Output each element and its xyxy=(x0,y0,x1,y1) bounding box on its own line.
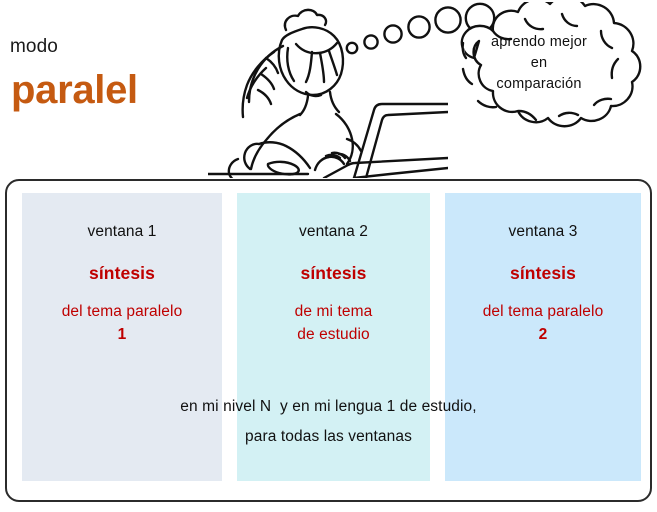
window-1-detail: del tema paralelo 1 xyxy=(22,300,222,346)
window-column-2[interactable]: ventana 2 síntesis de mi tema de estudio xyxy=(237,193,430,481)
window-2-detail: de mi tema de estudio xyxy=(237,300,430,346)
thought-line-2: en xyxy=(453,53,625,74)
diagram-canvas: modo paralel xyxy=(0,0,657,512)
window-3-detail-line-1: del tema paralelo xyxy=(445,300,641,323)
mode-kicker-label: modo xyxy=(10,36,58,58)
window-1-emphasis: síntesis xyxy=(22,263,222,284)
window-1-detail-line-2: 1 xyxy=(22,323,222,346)
window-2-emphasis: síntesis xyxy=(237,263,430,284)
window-2-header: ventana 2 xyxy=(237,222,430,242)
thought-bubble-text: aprendo mejor en comparación xyxy=(453,32,625,95)
thought-line-1: aprendo mejor xyxy=(453,32,625,53)
window-3-detail-line-2: 2 xyxy=(445,323,641,346)
window-3-emphasis: síntesis xyxy=(445,263,641,284)
page-title: paralel xyxy=(11,68,138,113)
window-1-detail-line-1: del tema paralelo xyxy=(22,300,222,323)
window-column-1[interactable]: ventana 1 síntesis del tema paralelo 1 xyxy=(22,193,222,481)
window-column-3[interactable]: ventana 3 síntesis del tema paralelo 2 xyxy=(445,193,641,481)
window-2-detail-line-2: de estudio xyxy=(237,323,430,346)
window-3-header: ventana 3 xyxy=(445,222,641,242)
windows-columns: ventana 1 síntesis del tema paralelo 1 v… xyxy=(5,193,652,481)
window-2-detail-line-1: de mi tema xyxy=(237,300,430,323)
window-1-header: ventana 1 xyxy=(22,222,222,242)
window-3-detail: del tema paralelo 2 xyxy=(445,300,641,346)
thought-line-3: comparación xyxy=(453,74,625,95)
